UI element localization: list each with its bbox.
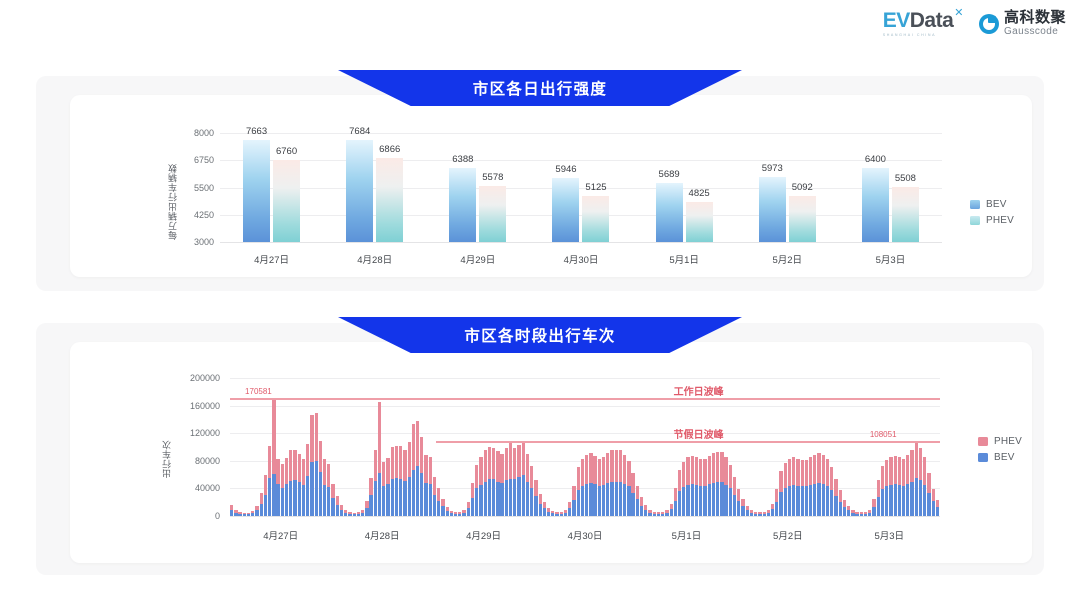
chart2-segment-bev (830, 490, 833, 516)
chart2-stacked-bar (670, 504, 673, 516)
chart2-segment-bev (610, 482, 613, 516)
chart2-stacked-bar (484, 450, 487, 516)
chart2-segment-bev (433, 495, 436, 516)
chart2-segment-phev (293, 450, 296, 480)
chart2-segment-bev (424, 483, 427, 516)
chart1-x-tick: 4月29日 (460, 252, 495, 266)
chart2-segment-phev (488, 447, 491, 479)
chart2-segment-bev (336, 505, 339, 516)
chart2-stacked-bar (809, 457, 812, 516)
chart2-stacked-bar (471, 483, 474, 516)
chart2-segment-phev (353, 513, 356, 515)
chart2-segment-bev (877, 497, 880, 516)
chart1-bar-bev: 7684 (346, 140, 373, 242)
chart2-segment-phev (923, 457, 926, 485)
chart2-segment-phev (826, 459, 829, 486)
chart2-annotation-line-holiday (436, 441, 940, 442)
chart2-segment-bev (792, 485, 795, 516)
chart1-x-tick: 5月1日 (669, 252, 699, 266)
chart2-segment-bev (919, 480, 922, 516)
chart2-segment-phev (264, 475, 267, 494)
chart2-segment-phev (699, 459, 702, 486)
chart2-segment-phev (374, 450, 377, 480)
chart2-stacked-bar (399, 446, 402, 516)
chart2-segment-phev (644, 505, 647, 510)
chart2-segment-bev (365, 508, 368, 516)
chart2-segment-bev (391, 479, 394, 516)
chart2-segment-bev (568, 508, 571, 516)
chart2-segment-phev (860, 512, 863, 514)
chart2-gridline (230, 433, 940, 434)
chart1-y-tick: 5500 (194, 183, 214, 193)
chart1-bar-phev: 6866 (376, 158, 403, 242)
chart2-annotation-text-weekday: 工作日波峰 (674, 383, 724, 398)
chart2-segment-bev (585, 484, 588, 516)
chart2-segment-phev (894, 456, 897, 484)
chart2-segment-phev (695, 457, 698, 485)
chart2-segment-bev (382, 486, 385, 516)
chart2-stacked-bar (577, 467, 580, 516)
chart2-x-tick: 4月29日 (466, 528, 501, 542)
chart2-segment-phev (932, 489, 935, 501)
chart2-segment-phev (513, 448, 516, 479)
chart2-segment-phev (517, 445, 520, 477)
chart2-segment-phev (691, 456, 694, 484)
chart2-stacked-bar (923, 457, 926, 516)
chart2-x-axis (230, 516, 940, 517)
chart2-stacked-bar (746, 506, 749, 516)
chart2-stacked-bar (771, 504, 774, 516)
chart1-bar-bev: 6400 (862, 168, 889, 242)
chart1-legend-item-bev: BEV (970, 199, 1014, 210)
chart2-segment-phev (479, 457, 482, 485)
title-text-daily-intensity: 市区各日出行强度 (473, 77, 607, 99)
chart2-stacked-bar (796, 459, 799, 516)
chart2-segment-phev (382, 462, 385, 486)
chart2-stacked-bar (289, 450, 292, 516)
chart2-segment-bev (272, 474, 275, 516)
chart2-segment-bev (872, 507, 875, 516)
chart2-stacked-bar (526, 454, 529, 516)
chart2-segment-bev (306, 476, 309, 516)
chart2-stacked-bar (606, 453, 609, 516)
chart2-stacked-bar (336, 496, 339, 516)
chart2-stacked-bar (877, 480, 880, 516)
chart2-segment-phev (302, 459, 305, 485)
chart2-stacked-bar (505, 448, 508, 516)
chart2-stacked-bar (872, 499, 875, 516)
chart2-stacked-bar (593, 456, 596, 516)
chart2-stacked-bar (889, 457, 892, 516)
chart2-segment-phev (306, 444, 309, 476)
chart-daily-intensity: 每万辆出行车辆数 80006750550042503000 766367604月… (70, 95, 1032, 277)
chart2-stacked-bar (230, 505, 233, 516)
chart2-segment-bev (902, 486, 905, 516)
chart2-segment-bev (276, 484, 279, 516)
chart2-segment-bev (674, 501, 677, 516)
chart2-segment-phev (408, 442, 411, 477)
chart2-stacked-bar (298, 454, 301, 516)
chart1-bar-bev: 5689 (656, 183, 683, 242)
chart2-segment-phev (670, 504, 673, 510)
chart2-stacked-bar (378, 402, 381, 516)
chart2-stacked-bar (446, 507, 449, 516)
chart2-segment-phev (526, 454, 529, 482)
chart2-stacked-bar (910, 450, 913, 516)
chart2-stacked-bar (340, 505, 343, 516)
chart2-segment-phev (555, 512, 558, 514)
chart2-segment-phev (763, 512, 766, 514)
chart1-x-tick: 4月28日 (357, 252, 392, 266)
chart2-stacked-bar (264, 475, 267, 516)
chart2-stacked-bar (919, 448, 922, 516)
card-hourly-trips: 出行车次 20000016000012000080000400000 4月27日… (70, 342, 1032, 563)
chart2-segment-bev (615, 482, 618, 516)
chart1-bar-group: 59465125 (529, 133, 632, 242)
chart2-x-tick: 5月1日 (672, 528, 702, 542)
chart2-stacked-bar (708, 456, 711, 516)
chart2-stacked-bar (585, 455, 588, 516)
chart2-segment-bev (716, 482, 719, 516)
chart2-segment-phev (716, 452, 719, 482)
chart1-bar-value-label: 7663 (246, 126, 267, 137)
chart2-segment-phev (703, 459, 706, 486)
chart2-segment-bev (775, 502, 778, 516)
chart2-segment-bev (691, 484, 694, 516)
chart2-stacked-bar (365, 501, 368, 516)
chart2-segment-phev (631, 473, 634, 492)
chart2-stacked-bar (817, 453, 820, 516)
chart2-segment-phev (336, 496, 339, 505)
chart2-stacked-bar (568, 502, 571, 516)
evdata-logo: EVData✕ SHANGHAI CHINA (883, 10, 963, 37)
chart1-y-tick: 6750 (194, 155, 214, 165)
chart2-segment-phev (796, 459, 799, 486)
chart2-stacked-bar (834, 479, 837, 516)
chart2-segment-phev (872, 499, 875, 507)
chart2-segment-phev (348, 512, 351, 514)
chart2-segment-bev (509, 479, 512, 516)
chart2-segment-bev (779, 492, 782, 516)
evdata-x-icon: ✕ (954, 8, 963, 19)
chart2-segment-bev (788, 486, 791, 516)
chart2-segment-bev (429, 484, 432, 516)
chart2-segment-phev (560, 512, 563, 514)
chart2-segment-phev (779, 471, 782, 492)
chart2-segment-bev (619, 482, 622, 516)
chart2-stacked-bar (369, 478, 372, 516)
chart2-stacked-bar (429, 457, 432, 516)
chart2-segment-phev (598, 459, 601, 486)
chart2-stacked-bar (479, 457, 482, 516)
slide-root: EVData✕ SHANGHAI CHINA 高科数聚 Gausscode 每万… (0, 0, 1080, 608)
chart2-segment-phev (665, 510, 668, 513)
chart1-bar-value-label: 5092 (792, 182, 813, 193)
chart2-segment-phev (505, 448, 508, 480)
chart2-stacked-bar (424, 455, 427, 516)
chart2-segment-phev (509, 441, 512, 479)
chart2-segment-bev (923, 485, 926, 516)
chart2-segment-phev (623, 455, 626, 484)
chart2-segment-phev (416, 421, 419, 466)
chart2-segment-bev (915, 478, 918, 516)
chart2-segment-phev (915, 441, 918, 478)
chart2-segment-bev (500, 483, 503, 516)
chart2-segment-phev (289, 450, 292, 480)
chart2-segment-bev (319, 472, 322, 516)
chart2-stacked-bar (268, 446, 271, 516)
chart2-segment-phev (369, 478, 372, 495)
chart2-stacked-bar (395, 446, 398, 516)
chart2-segment-bev (682, 487, 685, 516)
chart2-segment-bev (543, 508, 546, 516)
chart2-segment-bev (484, 482, 487, 516)
chart2-segment-bev (631, 493, 634, 516)
chart2-stacked-bar (631, 473, 634, 516)
chart2-stacked-bar (306, 444, 309, 516)
chart2-annotation-text-holiday: 节假日波峰 (674, 426, 724, 441)
chart2-legend-label: PHEV (994, 436, 1022, 447)
chart2-segment-bev (839, 502, 842, 516)
chart2-segment-phev (602, 457, 605, 485)
gausscode-logo: 高科数聚 Gausscode (979, 10, 1066, 37)
chart2-y-tick: 80000 (195, 456, 220, 466)
chart2-segment-bev (686, 485, 689, 516)
chart2-segment-phev (462, 510, 465, 513)
chart2-segment-phev (885, 460, 888, 486)
chart2-stacked-bar (255, 506, 258, 516)
chart2-segment-phev (403, 450, 406, 480)
chart2-segment-phev (619, 450, 622, 481)
chart2-y-tick: 200000 (190, 373, 220, 383)
chart2-stacked-bar (712, 453, 715, 516)
chart2-segment-phev (547, 508, 550, 511)
chart2-segment-bev (268, 478, 271, 516)
chart2-segment-phev (429, 457, 432, 483)
chart2-segment-bev (420, 473, 423, 516)
chart2-segment-bev (412, 470, 415, 516)
chart2-segment-bev (323, 485, 326, 516)
chart2-segment-phev (331, 484, 334, 499)
chart2-segment-phev (817, 453, 820, 483)
chart2-segment-bev (327, 487, 330, 516)
chart2-segment-phev (809, 457, 812, 485)
chart2-segment-phev (386, 458, 389, 484)
chart2-segment-phev (475, 465, 478, 488)
chart2-segment-bev (822, 484, 825, 516)
chart2-segment-bev (606, 483, 609, 516)
chart2-segment-phev (399, 446, 402, 478)
chart1-bar-group: 76846866 (323, 133, 426, 242)
chart2-stacked-bar (741, 499, 744, 516)
chart2-segment-phev (365, 501, 368, 508)
chart2-segment-bev (784, 488, 787, 516)
chart2-segment-phev (357, 512, 360, 514)
chart2-segment-phev (568, 502, 571, 508)
chart2-segment-bev (395, 478, 398, 516)
chart2-stacked-bar (547, 508, 550, 516)
chart2-segment-bev (467, 508, 470, 516)
chart2-segment-phev (327, 464, 330, 487)
chart2-stacked-bar (733, 477, 736, 516)
chart2-segment-phev (919, 448, 922, 480)
chart2-segment-phev (877, 480, 880, 497)
chart2-stacked-bar (885, 460, 888, 516)
chart2-segment-bev (826, 486, 829, 516)
chart2-stacked-bar (420, 437, 423, 516)
chart2-segment-bev (496, 482, 499, 516)
chart2-stacked-bar (522, 441, 525, 516)
chart2-segment-phev (843, 500, 846, 507)
chart2-segment-phev (910, 450, 913, 482)
evdata-data-text: Data (910, 10, 954, 31)
chart2-segment-phev (686, 457, 689, 485)
chart2-stacked-bar (788, 459, 791, 516)
chart2-stacked-bar (581, 459, 584, 516)
chart2-segment-phev (243, 513, 246, 514)
chart2-segment-bev (386, 484, 389, 516)
chart2-stacked-bar (517, 445, 520, 516)
chart1-x-axis (220, 242, 942, 243)
chart1-bar-value-label: 7684 (349, 126, 370, 137)
chart2-stacked-bar (475, 465, 478, 516)
chart2-stacked-bar (602, 457, 605, 516)
chart2-segment-bev (437, 501, 440, 516)
chart2-segment-bev (298, 482, 301, 516)
chart2-x-tick: 4月28日 (365, 528, 400, 542)
chart2-segment-bev (936, 507, 939, 516)
chart2-segment-phev (361, 510, 364, 513)
chart1-y-tick: 3000 (194, 237, 214, 247)
chart2-segment-phev (927, 473, 930, 492)
chart2-stacked-bar (539, 494, 542, 516)
chart2-segment-bev (894, 484, 897, 516)
chart2-stacked-bar (703, 459, 706, 516)
chart2-legend-item-phev: PHEV (978, 436, 1022, 447)
chart2-stacked-bar (433, 477, 436, 516)
chart2-segment-phev (539, 494, 542, 504)
chart1-bar-group: 64005508 (839, 133, 942, 242)
chart2-segment-bev (293, 480, 296, 516)
chart1-bar-value-label: 6866 (379, 144, 400, 155)
chart2-segment-bev (708, 484, 711, 516)
header-logos: EVData✕ SHANGHAI CHINA 高科数聚 Gausscode (883, 10, 1066, 37)
chart2-x-tick: 5月3日 (874, 528, 904, 542)
chart1-x-tick: 5月2日 (772, 252, 802, 266)
chart2-segment-phev (496, 451, 499, 481)
chart2-legend-label: BEV (994, 452, 1015, 463)
chart2-legend-swatch (978, 453, 988, 462)
chart2-stacked-bar (627, 461, 630, 516)
chart2-stacked-bar (572, 486, 575, 516)
chart2-segment-phev (315, 413, 318, 461)
chart2-segment-bev (737, 501, 740, 516)
chart2-segment-bev (720, 482, 723, 516)
chart2-segment-bev (678, 491, 681, 516)
chart2-stacked-bar (543, 502, 546, 516)
chart2-segment-bev (513, 479, 516, 516)
chart2-segment-phev (454, 512, 457, 514)
chart2-stacked-bar (881, 466, 884, 516)
chart2-segment-phev (268, 446, 271, 478)
chart2-segment-phev (424, 455, 427, 483)
chart2-segment-phev (822, 455, 825, 484)
chart2-segment-phev (636, 486, 639, 499)
chart2-stacked-bar (737, 489, 740, 516)
chart2-segment-phev (530, 466, 533, 489)
chart2-segment-phev (682, 462, 685, 488)
chart1-bar-group: 76636760 (220, 133, 323, 242)
chart2-segment-phev (674, 488, 677, 501)
chart2-stacked-bar (839, 490, 842, 516)
chart2-segment-phev (412, 424, 415, 471)
chart1-bar-group: 59735092 (736, 133, 839, 242)
chart2-segment-phev (593, 456, 596, 484)
chart1-bar-group: 56894825 (633, 133, 736, 242)
chart2-stacked-bar (716, 452, 719, 516)
chart2-stacked-bar (412, 424, 415, 516)
chart2-segment-bev (817, 483, 820, 516)
chart2-segment-phev (902, 459, 905, 486)
chart2-segment-phev (247, 513, 250, 515)
chart2-stacked-bar (467, 502, 470, 516)
chart2-segment-bev (281, 488, 284, 516)
chart2-segment-phev (420, 437, 423, 473)
chart2-segment-bev (488, 479, 491, 516)
chart2-segment-phev (771, 504, 774, 510)
chart2-stacked-bar (331, 484, 334, 516)
chart1-bar-value-label: 6760 (276, 146, 297, 157)
chart2-segment-bev (441, 506, 444, 516)
chart2-stacked-bar (382, 462, 385, 516)
chart2-segment-bev (310, 462, 313, 517)
chart2-x-tick: 4月27日 (263, 528, 298, 542)
chart1-legend-label: PHEV (986, 215, 1014, 226)
chart2-segment-bev (522, 475, 525, 516)
chart1-bar-value-label: 5508 (895, 173, 916, 184)
chart2-segment-bev (475, 488, 478, 516)
chart2-segment-phev (610, 450, 613, 481)
chart2-segment-phev (391, 447, 394, 479)
gausscode-cn-name: 高科数聚 (1004, 10, 1066, 25)
chart2-segment-phev (720, 452, 723, 482)
chart2-stacked-bar (915, 441, 918, 516)
chart2-segment-phev (433, 477, 436, 494)
chart1-bar-value-label: 5689 (659, 169, 680, 180)
chart-hourly-trips: 出行车次 20000016000012000080000400000 4月27日… (70, 342, 1032, 563)
chart2-segment-bev (539, 504, 542, 516)
chart2-segment-bev (805, 486, 808, 516)
chart2-segment-phev (746, 506, 749, 510)
chart2-segment-phev (767, 510, 770, 513)
chart1-bar-value-label: 5946 (555, 164, 576, 175)
chart2-segment-phev (564, 510, 567, 513)
chart2-stacked-bar (276, 459, 279, 516)
chart2-segment-bev (289, 481, 292, 516)
chart1-bar-bev: 5973 (759, 177, 786, 242)
chart2-segment-phev (260, 493, 263, 503)
chart2-segment-bev (627, 486, 630, 516)
chart2-segment-phev (285, 458, 288, 484)
chart2-stacked-bar (826, 459, 829, 516)
chart2-segment-bev (801, 486, 804, 516)
gausscode-mark-icon (979, 14, 999, 34)
chart2-stacked-bar (496, 451, 499, 516)
chart2-x-tick: 4月30日 (568, 528, 603, 542)
chart2-stacked-bar (530, 466, 533, 516)
chart1-legend-swatch (970, 216, 980, 225)
chart2-segment-bev (589, 483, 592, 516)
